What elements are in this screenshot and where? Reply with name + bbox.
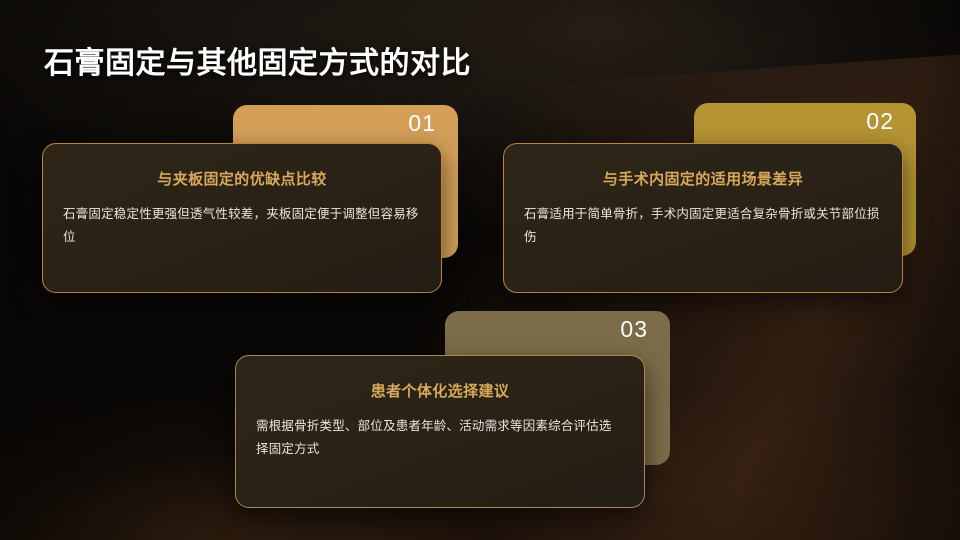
page-title: 石膏固定与其他固定方式的对比 <box>44 38 471 82</box>
card-01-body[interactable]: 与夹板固定的优缺点比较 石膏固定稳定性更强但透气性较差，夹板固定便于调整但容易移… <box>42 143 442 293</box>
card-02-description: 石膏适用于简单骨折，手术内固定更适合复杂骨折或关节部位损伤 <box>524 203 880 249</box>
card-01-description: 石膏固定稳定性更强但透气性较差，夹板固定便于调整但容易移位 <box>63 203 419 249</box>
card-02-number: 02 <box>866 103 916 133</box>
slide-canvas: 石膏固定与其他固定方式的对比 01 与夹板固定的优缺点比较 石膏固定稳定性更强但… <box>0 0 960 540</box>
card-03-number: 03 <box>620 311 670 341</box>
card-02-body[interactable]: 与手术内固定的适用场景差异 石膏适用于简单骨折，手术内固定更适合复杂骨折或关节部… <box>503 143 903 293</box>
card-03-description: 需根据骨折类型、部位及患者年龄、活动需求等因素综合评估选择固定方式 <box>256 415 622 461</box>
card-02-title: 与手术内固定的适用场景差异 <box>522 168 884 189</box>
card-03-body[interactable]: 患者个体化选择建议 需根据骨折类型、部位及患者年龄、活动需求等因素综合评估选择固… <box>235 355 645 508</box>
card-03-title: 患者个体化选择建议 <box>254 380 626 401</box>
card-01-number: 01 <box>408 105 458 135</box>
card-01-title: 与夹板固定的优缺点比较 <box>61 168 423 189</box>
